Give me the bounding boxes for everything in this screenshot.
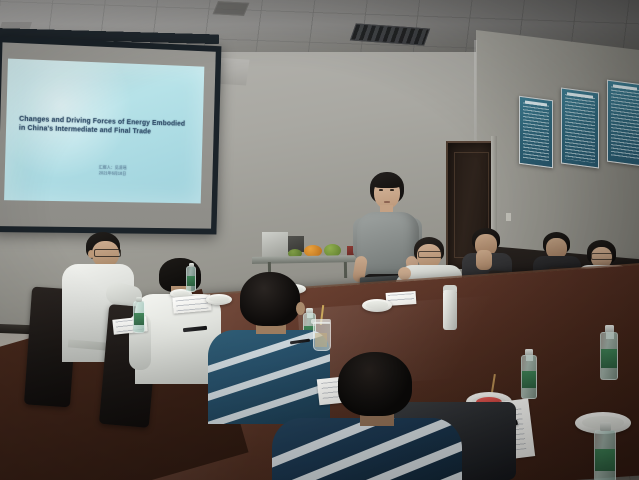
- attendee-glasses: [591, 253, 613, 260]
- water-bottle: [133, 301, 145, 333]
- wall-plaque: [561, 87, 599, 168]
- projected-slide: Changes and Driving Forces of Energy Emb…: [4, 59, 204, 204]
- bottle-label: [595, 449, 615, 471]
- wall-plaque: [519, 96, 553, 168]
- side-table-box: [262, 232, 288, 257]
- bottle-cap: [189, 263, 194, 267]
- slide-presenter-line: 汇报人：见凌瑶 2021年6月18日: [60, 164, 165, 178]
- wall-plaque: [607, 80, 639, 167]
- presenter-mouth: [384, 201, 390, 203]
- bottle-label: [522, 371, 536, 388]
- water-bottle: [521, 355, 537, 399]
- plaque-text-lines: [565, 94, 595, 163]
- thermos-flask: [443, 290, 457, 330]
- bottle-label: [187, 276, 195, 286]
- cup-lid: [311, 319, 331, 324]
- projection-screen: Changes and Driving Forces of Energy Emb…: [0, 36, 221, 234]
- attendee-foreground-striped: [300, 352, 450, 480]
- presenter-fringe: [372, 176, 402, 188]
- attendee-glasses: [94, 249, 121, 257]
- presenter-eye-left: [379, 189, 383, 191]
- attendee-ear: [296, 302, 305, 315]
- cup-liquid: [315, 333, 327, 347]
- plaque-text-lines: [523, 102, 549, 162]
- photo-scene: Changes and Driving Forces of Energy Emb…: [0, 0, 639, 480]
- bottle-cap: [600, 422, 611, 431]
- handwriting-lines: [176, 297, 209, 311]
- attendee-hair: [338, 352, 412, 416]
- bottle-cap: [136, 297, 142, 302]
- plaque-text-lines: [611, 86, 639, 161]
- bottle-neck: [606, 332, 614, 339]
- bottle-neck: [526, 355, 533, 361]
- handwriting-lines: [388, 293, 414, 304]
- attendee-torso: [272, 418, 462, 480]
- water-bottle: [600, 332, 618, 380]
- water-bottle: [594, 430, 616, 480]
- water-bottle: [186, 266, 196, 292]
- attendee-hand: [398, 267, 411, 280]
- attendee-glasses: [418, 251, 442, 258]
- bottle-label: [601, 349, 617, 368]
- bowl-interior: [366, 301, 389, 309]
- light-switch: [506, 213, 511, 221]
- bowl: [362, 299, 392, 312]
- attendee-hair: [240, 272, 300, 326]
- side-table-leg: [344, 262, 347, 278]
- attendee-hands: [476, 250, 492, 270]
- presenter-eye-right: [390, 189, 394, 191]
- bottle-label: [134, 313, 144, 325]
